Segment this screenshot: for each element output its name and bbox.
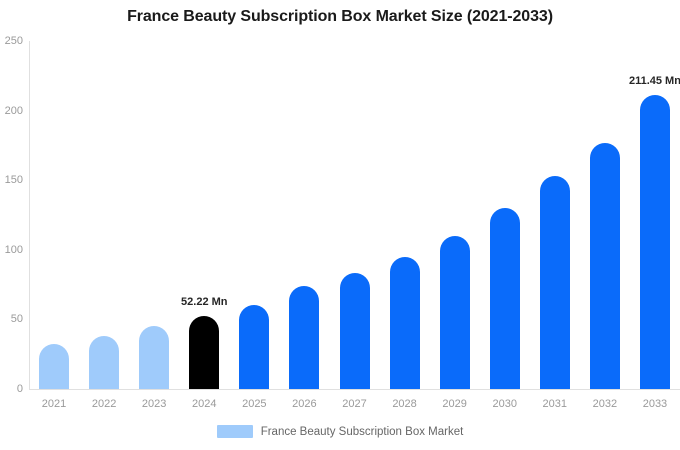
bar-rect — [139, 326, 169, 389]
bar-rect — [440, 236, 470, 389]
chart-container: France Beauty Subscription Box Market Si… — [0, 0, 680, 450]
chart-legend[interactable]: France Beauty Subscription Box Market — [0, 425, 680, 438]
bar-rect — [590, 143, 620, 389]
x-axis-tick-label: 2032 — [580, 398, 630, 410]
bar-2027[interactable] — [340, 273, 370, 389]
bar-2023[interactable] — [139, 326, 169, 389]
bar-2033[interactable] — [640, 95, 670, 389]
bar-2028[interactable] — [390, 257, 420, 389]
bar-rect — [39, 344, 69, 389]
bar-value-label-2024: 52.22 Mn — [154, 296, 254, 308]
bar-2030[interactable] — [490, 208, 520, 389]
x-axis-tick-label: 2030 — [480, 398, 530, 410]
x-axis-tick-label: 2022 — [79, 398, 129, 410]
bar-rect — [189, 316, 219, 389]
bar-value-label-2033: 211.45 Mn — [605, 75, 680, 87]
chart-title: France Beauty Subscription Box Market Si… — [0, 8, 680, 26]
x-axis-tick-label: 2027 — [329, 398, 379, 410]
bar-rect — [289, 286, 319, 389]
x-axis-line — [29, 389, 680, 390]
y-axis: 050100150200250 — [0, 0, 23, 450]
bar-rect — [390, 257, 420, 389]
x-axis-tick-label: 2031 — [530, 398, 580, 410]
y-axis-tick-label: 100 — [0, 244, 23, 256]
x-axis-tick-label: 2029 — [430, 398, 480, 410]
x-axis-tick-label: 2024 — [179, 398, 229, 410]
bar-2021[interactable] — [39, 344, 69, 389]
bar-2029[interactable] — [440, 236, 470, 389]
y-axis-tick-label: 0 — [0, 383, 23, 395]
legend-label: France Beauty Subscription Box Market — [261, 426, 464, 438]
bar-2031[interactable] — [540, 176, 570, 389]
bar-2024[interactable] — [189, 316, 219, 389]
y-axis-tick-label: 250 — [0, 35, 23, 47]
x-axis-tick-label: 2023 — [129, 398, 179, 410]
bar-2025[interactable] — [239, 305, 269, 389]
bar-rect — [640, 95, 670, 389]
bar-2032[interactable] — [590, 143, 620, 389]
x-axis-tick-label: 2033 — [630, 398, 680, 410]
bar-rect — [340, 273, 370, 389]
x-axis-tick-label: 2028 — [380, 398, 430, 410]
bar-2022[interactable] — [89, 336, 119, 389]
bar-rect — [540, 176, 570, 389]
x-axis-tick-label: 2021 — [29, 398, 79, 410]
bar-rect — [490, 208, 520, 389]
x-axis-tick-label: 2025 — [229, 398, 279, 410]
y-axis-tick-label: 200 — [0, 105, 23, 117]
y-axis-tick-label: 50 — [0, 313, 23, 325]
bar-2026[interactable] — [289, 286, 319, 389]
bar-rect — [239, 305, 269, 389]
y-axis-tick-label: 150 — [0, 174, 23, 186]
legend-swatch-icon — [217, 425, 253, 438]
bar-rect — [89, 336, 119, 389]
x-axis-tick-label: 2026 — [279, 398, 329, 410]
